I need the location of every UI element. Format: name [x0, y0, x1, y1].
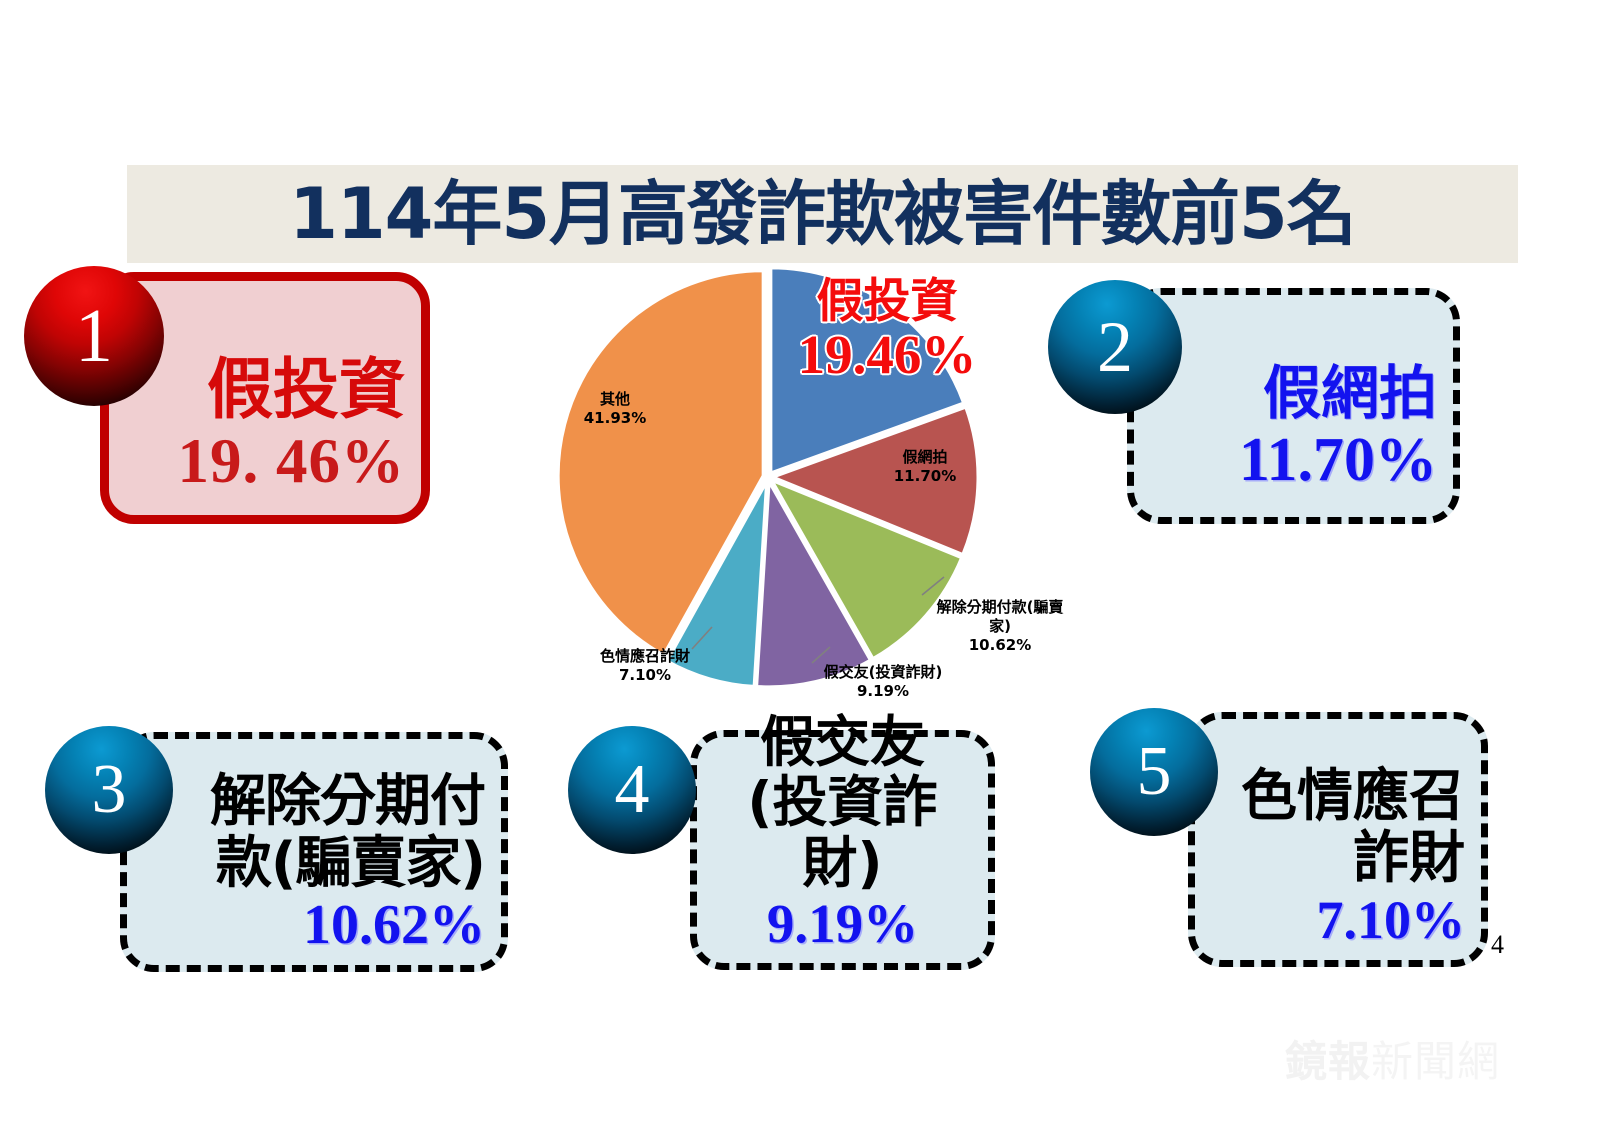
- rank-card-2-value: 11.70%: [1150, 426, 1437, 495]
- rank-badge-5-number: 5: [1137, 732, 1172, 812]
- watermark: 鏡報新聞網: [1285, 1028, 1500, 1089]
- pie-label-porn: 色情應召詐財 7.10%: [575, 647, 715, 685]
- rank-badge-4[interactable]: 4: [568, 726, 696, 854]
- rank-card-4-title: 假交友 (投資詐財): [713, 712, 972, 894]
- page-title: 114年5月高發詐欺被害件數前5名: [127, 168, 1518, 260]
- rank-badge-3-number: 3: [92, 750, 127, 830]
- watermark-light: 新聞網: [1371, 1037, 1500, 1086]
- rank-card-3-value: 10.62%: [143, 894, 485, 957]
- rank-card-5-value: 7.10%: [1211, 890, 1465, 950]
- rank-card-4[interactable]: 假交友 (投資詐財) 9.19%: [690, 730, 995, 970]
- pie-label-other: 其他 41.93%: [560, 390, 670, 428]
- rank-card-5-title: 色情應召 詐財: [1211, 766, 1465, 889]
- rank-card-1-value: 19. 46%: [125, 426, 405, 497]
- rank-card-3-title: 解除分期付 款(騙賣家): [143, 771, 485, 894]
- rank-badge-2[interactable]: 2: [1048, 280, 1182, 414]
- rank-card-4-value: 9.19%: [713, 893, 972, 955]
- watermark-bold: 鏡報: [1285, 1037, 1371, 1086]
- page-number: 4: [1491, 930, 1504, 960]
- rank-card-3[interactable]: 解除分期付 款(騙賣家) 10.62%: [120, 732, 508, 972]
- rank-card-5[interactable]: 色情應召 詐財 7.10%: [1188, 712, 1488, 967]
- rank-badge-3[interactable]: 3: [45, 726, 173, 854]
- pie-label-installment: 解除分期付款(騙賣 家) 10.62%: [925, 598, 1075, 654]
- rank-card-1-title: 假投資: [125, 354, 405, 427]
- rank-badge-1-number: 1: [75, 293, 113, 380]
- rank-badge-2-number: 2: [1097, 306, 1133, 389]
- pie-chart: 其他 41.93% 假網拍 11.70% 解除分期付款(騙賣 家) 10.62%…: [540, 255, 1010, 715]
- pie-label-fake-friend: 假交友(投資詐財) 9.19%: [808, 663, 958, 701]
- pie-label-net-auction: 假網拍 11.70%: [870, 448, 980, 486]
- rank-badge-1[interactable]: 1: [24, 266, 164, 406]
- rank-card-2-title: 假網拍: [1150, 362, 1437, 426]
- rank-badge-4-number: 4: [615, 750, 650, 830]
- rank-badge-5[interactable]: 5: [1090, 708, 1218, 836]
